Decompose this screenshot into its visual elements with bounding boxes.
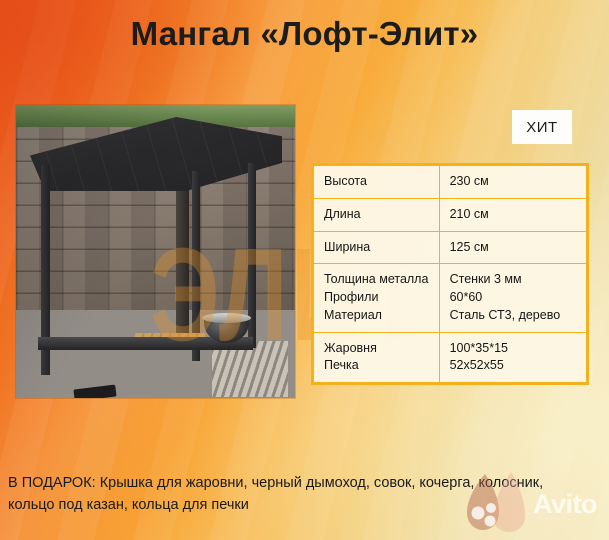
spec-table: Высота 230 см Длина 210 см Ширина 125 см… bbox=[313, 165, 587, 383]
table-row: Высота 230 см bbox=[314, 166, 587, 199]
spec-key-line: Толщина металла bbox=[324, 271, 439, 289]
spec-value-line: 52x52x55 bbox=[450, 357, 586, 375]
spec-value-line: Сталь СТ3, дерево bbox=[450, 307, 586, 325]
spec-value: 125 см bbox=[439, 231, 586, 264]
product-photo bbox=[16, 105, 295, 398]
status-badge-label: ХИТ bbox=[526, 119, 557, 136]
spec-key: Высота bbox=[314, 166, 440, 199]
photo-shading bbox=[16, 105, 295, 398]
spec-value: 230 см bbox=[439, 166, 586, 199]
spec-key: Длина bbox=[314, 198, 440, 231]
spec-key-multiline: Толщина металла Профили Материал bbox=[314, 264, 440, 332]
spec-key-line: Жаровня bbox=[324, 340, 439, 358]
advertisement-card: Мангал «Лофт-Элит» ЭЛИТ ХИТ Высота 230 с… bbox=[0, 0, 609, 540]
spec-key: Ширина bbox=[314, 231, 440, 264]
spec-value-multiline: Стенки 3 мм 60*60 Сталь СТ3, дерево bbox=[439, 264, 586, 332]
spec-key-line: Печка bbox=[324, 357, 439, 375]
spec-key-multiline: Жаровня Печка bbox=[314, 332, 440, 383]
status-badge: ХИТ bbox=[512, 110, 572, 144]
spec-key-line: Профили bbox=[324, 289, 439, 307]
spec-value-line: 100*35*15 bbox=[450, 340, 586, 358]
table-row: Толщина металла Профили Материал Стенки … bbox=[314, 264, 587, 332]
gift-text: В ПОДАРОК: Крышка для жаровни, черный ды… bbox=[8, 472, 568, 516]
table-row: Жаровня Печка 100*35*15 52x52x55 bbox=[314, 332, 587, 383]
spec-value-multiline: 100*35*15 52x52x55 bbox=[439, 332, 586, 383]
table-row: Длина 210 см bbox=[314, 198, 587, 231]
spec-value-line: Стенки 3 мм bbox=[450, 271, 586, 289]
spec-value-line: 60*60 bbox=[450, 289, 586, 307]
table-row: Ширина 125 см bbox=[314, 231, 587, 264]
spec-key-line: Материал bbox=[324, 307, 439, 325]
page-title: Мангал «Лофт-Элит» bbox=[0, 16, 609, 52]
spec-value: 210 см bbox=[439, 198, 586, 231]
